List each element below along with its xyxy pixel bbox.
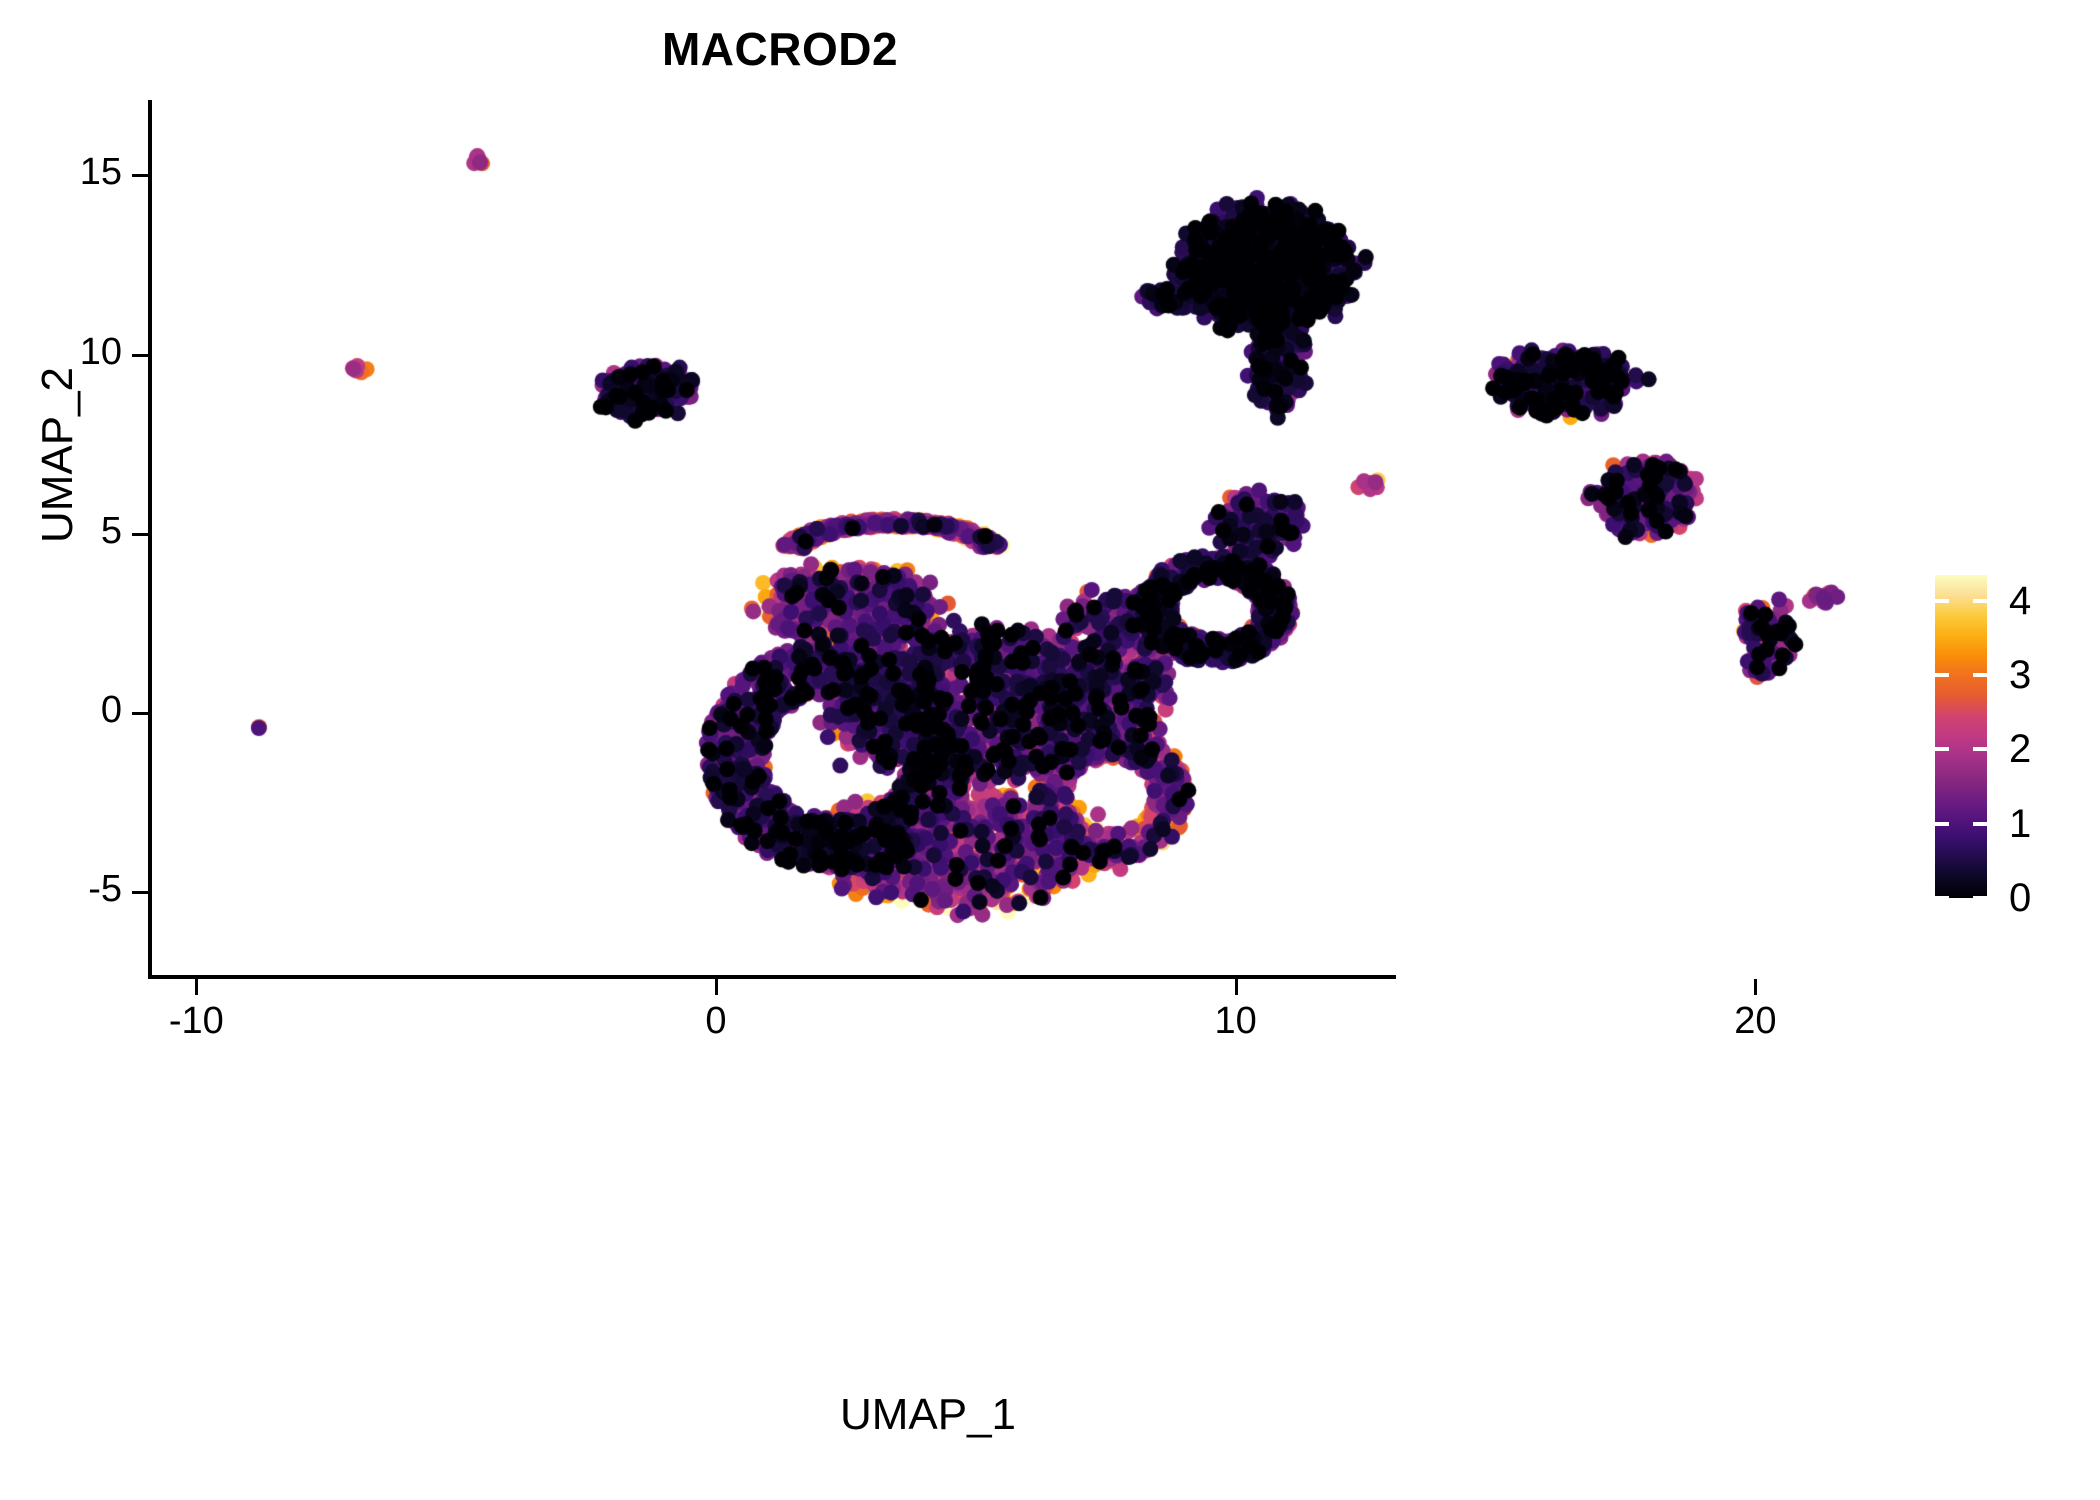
colorbar-tick xyxy=(1973,896,1987,900)
x-axis-tick-label: 0 xyxy=(646,1000,786,1043)
colorbar-tick-label: 0 xyxy=(2009,878,2031,918)
umap-feature-plot: MACROD2 UMAP_2 UMAP_1 151050-5-1001020 0… xyxy=(0,0,2100,1500)
scatter-canvas xyxy=(150,100,1990,1290)
y-axis-line xyxy=(148,100,152,978)
y-axis-tick-label: 0 xyxy=(12,689,122,732)
colorbar-tick xyxy=(1935,747,1949,751)
x-axis-tick-label: 10 xyxy=(1166,1000,1306,1043)
scatter-plot-area xyxy=(150,100,1990,1290)
colorbar-tick xyxy=(1973,747,1987,751)
y-axis-tick xyxy=(132,174,148,177)
y-axis-tick xyxy=(132,354,148,357)
page-title: MACROD2 xyxy=(0,22,1560,76)
y-axis-tick xyxy=(132,712,148,715)
x-axis-tick xyxy=(195,979,198,995)
y-axis-tick xyxy=(132,533,148,536)
colorbar-tick xyxy=(1973,673,1987,677)
y-axis-tick xyxy=(132,891,148,894)
x-axis-tick-label: 20 xyxy=(1685,1000,1825,1043)
y-axis-tick-label: 15 xyxy=(12,151,122,194)
x-axis-title: UMAP_1 xyxy=(478,1390,1378,1440)
y-axis-tick-label: 10 xyxy=(12,331,122,374)
colorbar-gradient: 01234 xyxy=(1935,575,1987,898)
y-axis-tick-label: -5 xyxy=(12,868,122,911)
colorbar-tick-label: 3 xyxy=(2009,655,2031,695)
colorbar-tick-label: 2 xyxy=(2009,729,2031,769)
y-axis-tick-label: 5 xyxy=(12,510,122,553)
colorbar-tick-label: 4 xyxy=(2009,581,2031,621)
colorbar-tick xyxy=(1935,673,1949,677)
x-axis-tick-label: -10 xyxy=(126,1000,266,1043)
colorbar-tick xyxy=(1973,599,1987,603)
colorbar-tick xyxy=(1973,822,1987,826)
colorbar-tick-label: 1 xyxy=(2009,804,2031,844)
x-axis-tick xyxy=(715,979,718,995)
x-axis-line xyxy=(148,975,1396,979)
colorbar-legend: 01234 xyxy=(1935,575,1987,898)
x-axis-tick xyxy=(1754,979,1757,995)
colorbar-tick xyxy=(1935,599,1949,603)
x-axis-tick xyxy=(1235,979,1238,995)
colorbar-tick xyxy=(1935,822,1949,826)
colorbar-tick xyxy=(1935,896,1949,900)
